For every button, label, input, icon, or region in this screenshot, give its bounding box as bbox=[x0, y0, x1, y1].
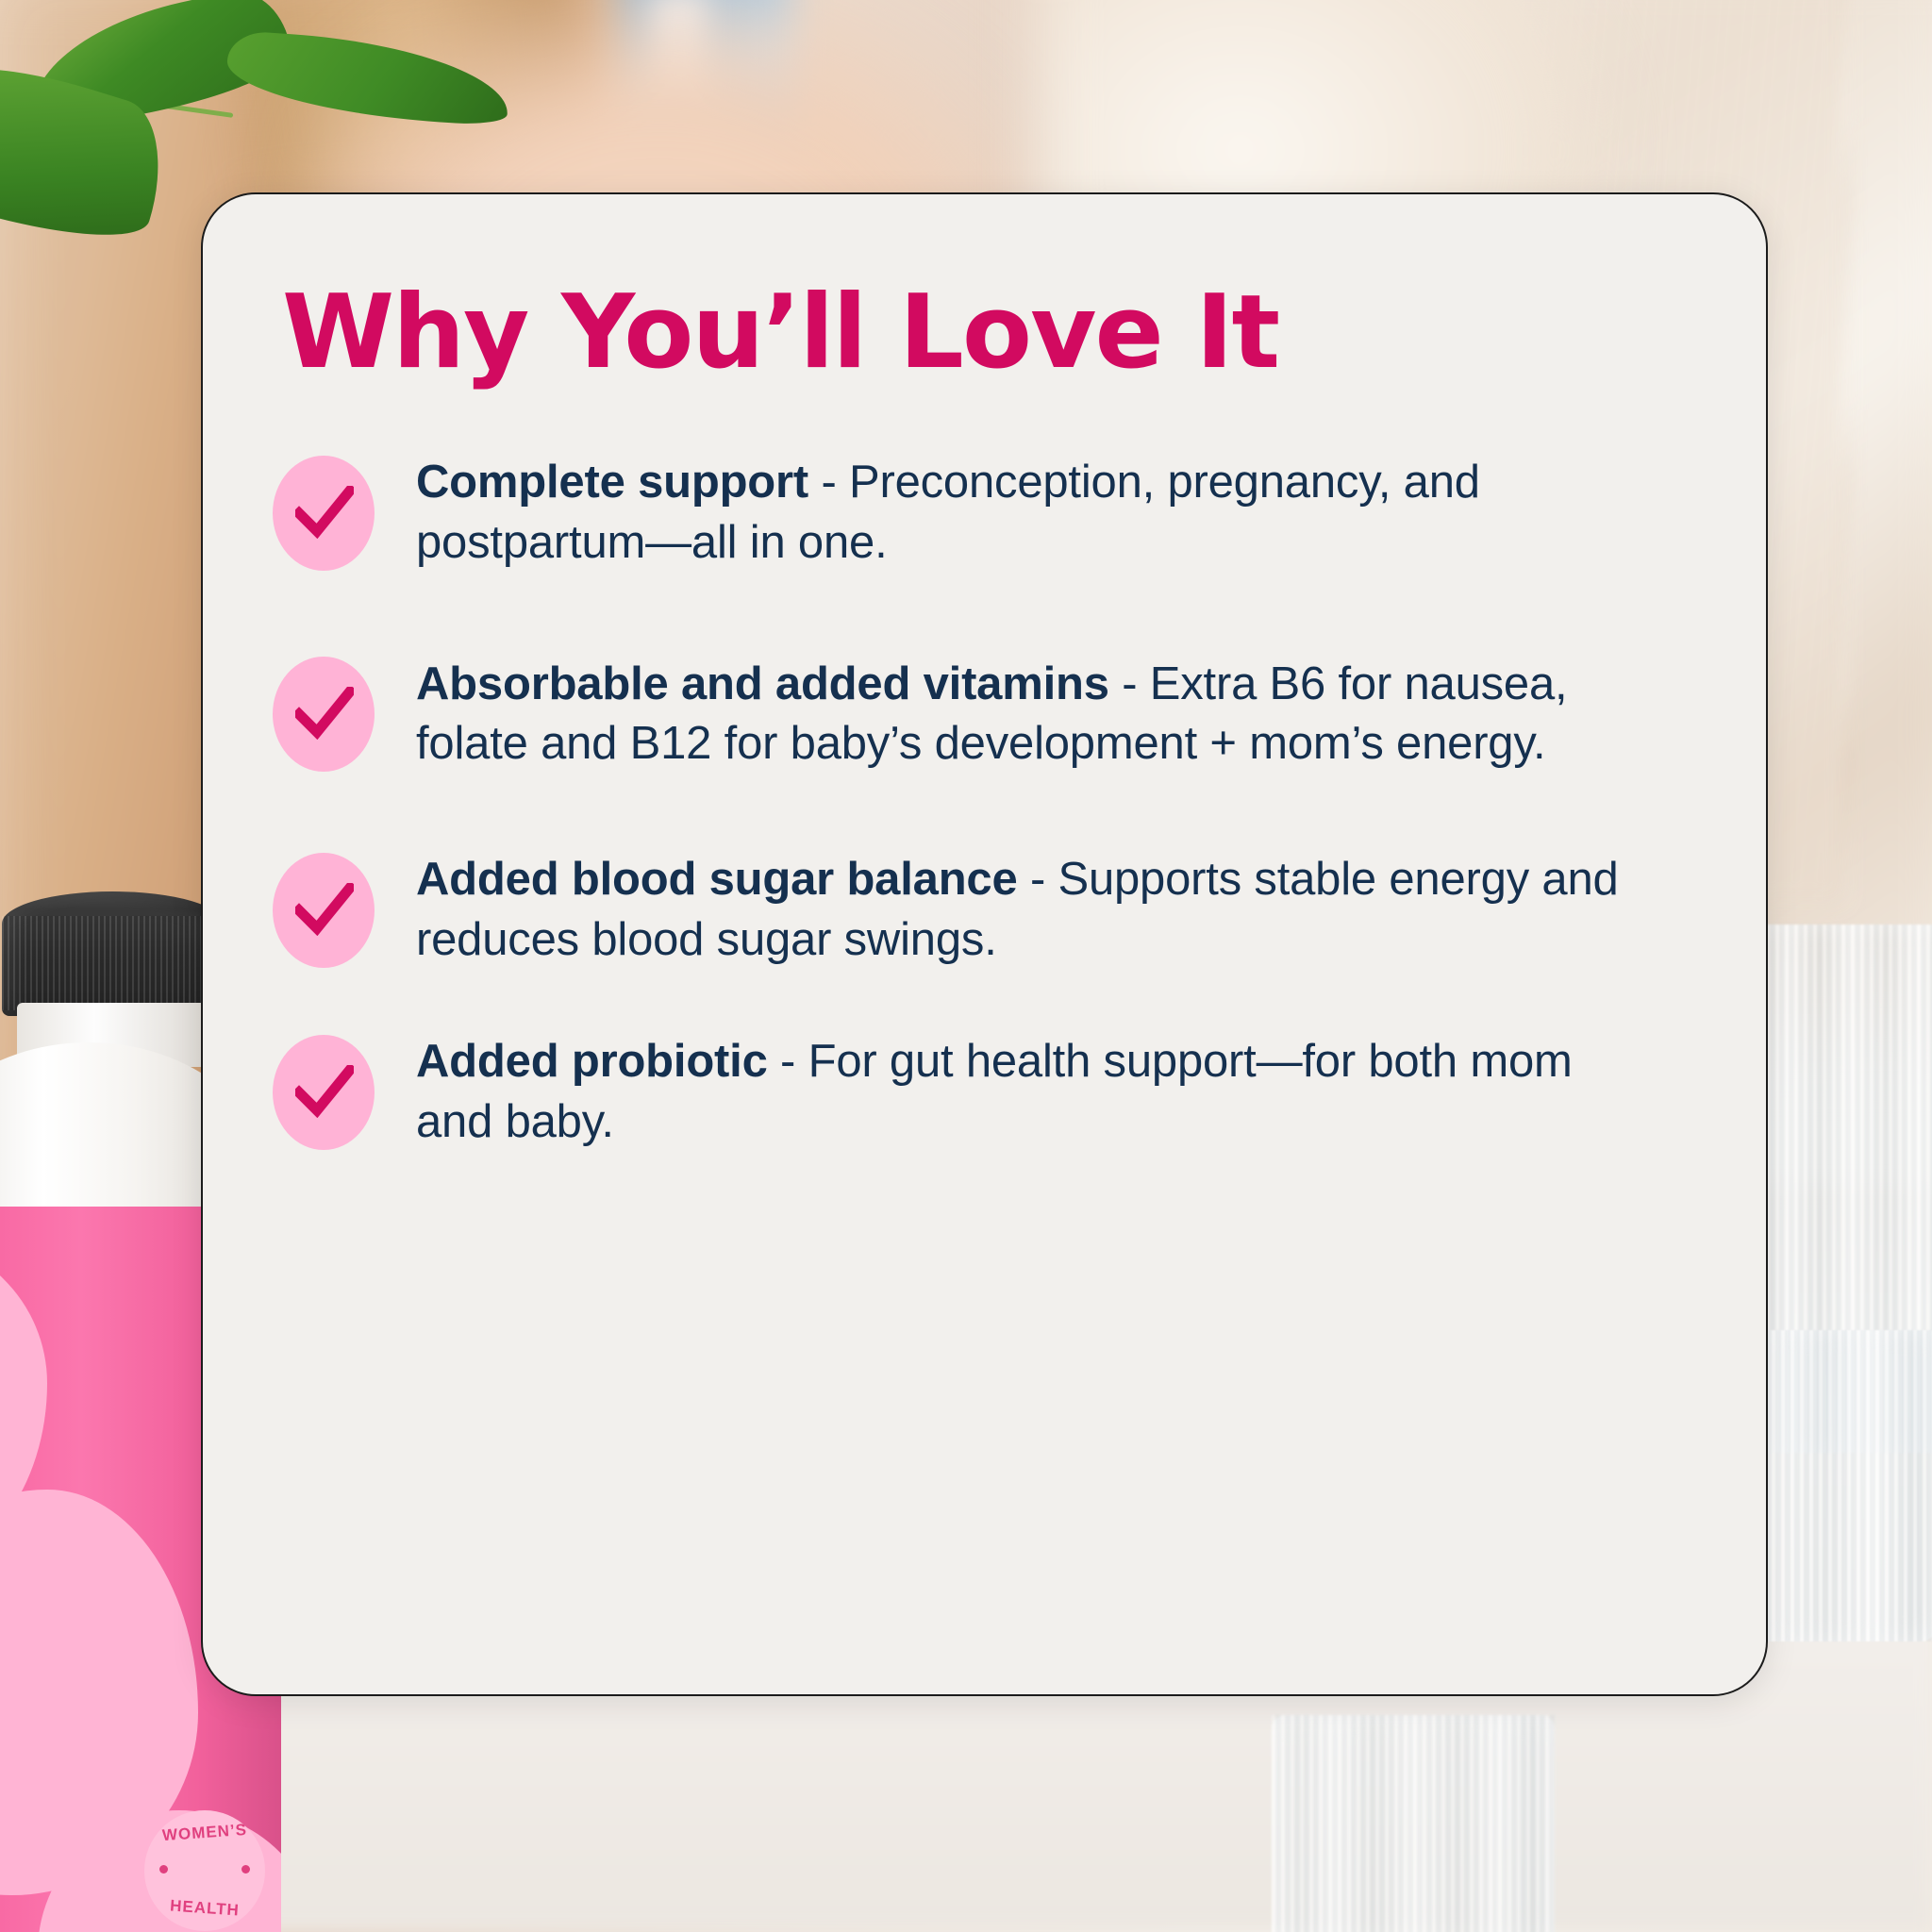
badge-dot-left bbox=[159, 1865, 168, 1874]
check-icon bbox=[273, 853, 375, 968]
benefit-text: Complete support - Preconception, pregna… bbox=[416, 453, 1661, 573]
benefit-text: Added probiotic - For gut health support… bbox=[416, 1032, 1661, 1152]
ribbed-water-glass-front bbox=[1272, 1715, 1555, 1932]
check-icon bbox=[273, 657, 375, 772]
benefit-item-added-probiotic: Added probiotic - For gut health support… bbox=[273, 1032, 1696, 1152]
benefit-text: Added blood sugar balance - Supports sta… bbox=[416, 850, 1661, 970]
plant-leaf-right bbox=[225, 30, 512, 127]
badge-dot-right bbox=[241, 1865, 250, 1874]
benefit-item-absorbable-vitamins: Absorbable and added vitamins - Extra B6… bbox=[273, 655, 1696, 774]
check-icon bbox=[273, 456, 375, 571]
benefits-list: Complete support - Preconception, pregna… bbox=[273, 453, 1696, 1153]
benefit-text: Absorbable and added vitamins - Extra B6… bbox=[416, 655, 1661, 774]
page-title: Why You’ll Love It bbox=[282, 281, 1696, 385]
benefit-lead: Added probiotic bbox=[416, 1036, 768, 1087]
benefit-item-blood-sugar-balance: Added blood sugar balance - Supports sta… bbox=[273, 850, 1696, 970]
benefit-lead: Added blood sugar balance bbox=[416, 854, 1018, 905]
benefit-lead: Absorbable and added vitamins bbox=[416, 658, 1109, 709]
bottle-cap bbox=[2, 891, 224, 1016]
womens-health-badge: WOMEN’S HEALTH bbox=[144, 1810, 265, 1931]
check-icon bbox=[273, 1035, 375, 1150]
badge-bottom-label: HEALTH bbox=[143, 1895, 265, 1923]
badge-top-label: WOMEN’S bbox=[143, 1820, 265, 1847]
benefit-item-complete-support: Complete support - Preconception, pregna… bbox=[273, 453, 1696, 573]
why-youll-love-it-card: Why You’ll Love It Complete support - Pr… bbox=[201, 192, 1768, 1696]
benefit-lead: Complete support bbox=[416, 457, 808, 508]
womens-health-badge-text: WOMEN’S HEALTH bbox=[144, 1810, 265, 1931]
